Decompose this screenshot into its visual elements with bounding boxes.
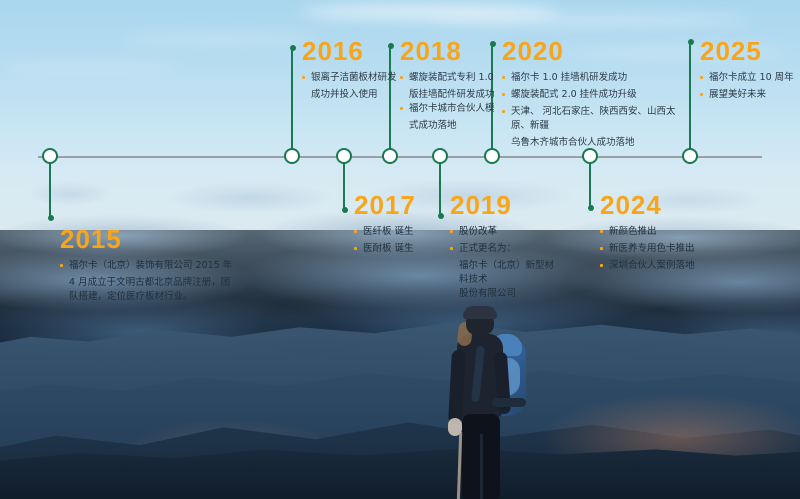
bullet-item: 式成功落地 [400, 119, 500, 133]
timeline-axis [38, 156, 762, 158]
timeline-stem [343, 156, 345, 210]
timeline-marker-2017[interactable] [336, 148, 352, 164]
cloud [0, 62, 180, 72]
timeline-end-dot [342, 207, 348, 213]
bullet-item: 展望美好未来 [700, 88, 800, 102]
year-label-2019: 2019 [450, 192, 560, 218]
bullet-item: 福尔卡（北京）装饰有限公司 2015 年 [60, 259, 235, 273]
timeline-entry-2016: 2016银离子洁菌板材研发成功并投入使用 [302, 38, 402, 102]
timeline-entry-2017: 2017医纤板 诞生医耐板 诞生 [354, 192, 432, 259]
timeline-end-dot [48, 215, 54, 221]
timeline-end-dot [438, 213, 444, 219]
bullet-item: 医纤板 诞生 [354, 225, 432, 239]
timeline-entry-2024: 2024新颜色推出新医养专用色卡推出深圳合伙人案例落地 [600, 192, 720, 276]
timeline-end-dot [290, 45, 296, 51]
timeline-marker-2025[interactable] [682, 148, 698, 164]
bullet-list-2024: 新颜色推出新医养专用色卡推出深圳合伙人案例落地 [600, 225, 720, 273]
bullet-item: 福尔卡（北京）新型材料技术 [450, 259, 560, 287]
bullet-item: 4 月成立于文明古都北京品牌注册，团 [60, 276, 235, 290]
timeline-marker-2016[interactable] [284, 148, 300, 164]
cloud [430, 14, 750, 26]
bullet-item: 版挂墙配件研发成功 [400, 88, 500, 102]
timeline-marker-2018[interactable] [382, 148, 398, 164]
timeline-stem [291, 48, 293, 156]
timeline-stem [439, 156, 441, 216]
hiker-silhouette [430, 306, 550, 499]
bullet-item: 股份改革 [450, 225, 560, 239]
year-label-2024: 2024 [600, 192, 720, 218]
bullet-item: 队搭建，定位医疗板材行业。 [60, 290, 235, 304]
bullet-item: 银离子洁菌板材研发 [302, 71, 402, 85]
cloud [120, 34, 320, 44]
bullet-list-2015: 福尔卡（北京）装饰有限公司 2015 年4 月成立于文明古都北京品牌注册，团队搭… [60, 259, 235, 304]
year-label-2025: 2025 [700, 38, 800, 64]
bullet-list-2020: 福尔卡 1.0 挂墙机研发成功螺旋装配式 2.0 挂件成功升级天津、 河北石家庄… [502, 71, 692, 150]
timeline-stem [49, 156, 51, 218]
year-label-2020: 2020 [502, 38, 692, 64]
bullet-list-2019: 股份改革正式更名为：福尔卡（北京）新型材料技术股份有限公司 [450, 225, 560, 301]
bullet-item: 天津、 河北石家庄、陕西西安、山西太原、新疆 [502, 105, 692, 133]
year-label-2018: 2018 [400, 38, 500, 64]
bullet-list-2018: 螺旋装配式专利 1.0版挂墙配件研发成功福尔卡城市合伙人模式成功落地 [400, 71, 500, 133]
bullet-list-2017: 医纤板 诞生医耐板 诞生 [354, 225, 432, 256]
backpack-strap [492, 398, 526, 407]
bullet-item: 乌鲁木齐城市合伙人成功落地 [502, 136, 692, 150]
timeline-marker-2015[interactable] [42, 148, 58, 164]
year-label-2015: 2015 [60, 226, 235, 252]
timeline-marker-2020[interactable] [484, 148, 500, 164]
bullet-item: 医耐板 诞生 [354, 242, 432, 256]
bullet-list-2016: 银离子洁菌板材研发成功并投入使用 [302, 71, 402, 102]
bullet-item: 深圳合伙人案例落地 [600, 259, 720, 273]
timeline-marker-2019[interactable] [432, 148, 448, 164]
timeline-entry-2018: 2018螺旋装配式专利 1.0版挂墙配件研发成功福尔卡城市合伙人模式成功落地 [400, 38, 500, 133]
timeline-entry-2025: 2025福尔卡成立 10 周年展望美好未来 [700, 38, 800, 105]
bullet-list-2025: 福尔卡成立 10 周年展望美好未来 [700, 71, 800, 102]
timeline-infographic: 2015福尔卡（北京）装饰有限公司 2015 年4 月成立于文明古都北京品牌注册… [0, 0, 800, 499]
bullet-item: 螺旋装配式 2.0 挂件成功升级 [502, 88, 692, 102]
bullet-item: 福尔卡城市合伙人模 [400, 102, 500, 116]
bullet-item: 新医养专用色卡推出 [600, 242, 720, 256]
bullet-item: 螺旋装配式专利 1.0 [400, 71, 500, 85]
year-label-2016: 2016 [302, 38, 402, 64]
year-label-2017: 2017 [354, 192, 432, 218]
bullet-item: 福尔卡 1.0 挂墙机研发成功 [502, 71, 692, 85]
bullet-item: 正式更名为： [450, 242, 560, 256]
timeline-end-dot [588, 205, 594, 211]
timeline-marker-2024[interactable] [582, 148, 598, 164]
bullet-item: 股份有限公司 [450, 287, 560, 301]
hiker-cap [463, 306, 497, 319]
bullet-item: 福尔卡成立 10 周年 [700, 71, 800, 85]
timeline-entry-2020: 2020福尔卡 1.0 挂墙机研发成功螺旋装配式 2.0 挂件成功升级天津、 河… [502, 38, 692, 150]
bullet-item: 新颜色推出 [600, 225, 720, 239]
hiker-leg-gap [480, 434, 483, 499]
timeline-entry-2015: 2015福尔卡（北京）装饰有限公司 2015 年4 月成立于文明古都北京品牌注册… [60, 226, 235, 304]
bullet-item: 成功并投入使用 [302, 88, 402, 102]
timeline-entry-2019: 2019股份改革正式更名为：福尔卡（北京）新型材料技术股份有限公司 [450, 192, 560, 301]
